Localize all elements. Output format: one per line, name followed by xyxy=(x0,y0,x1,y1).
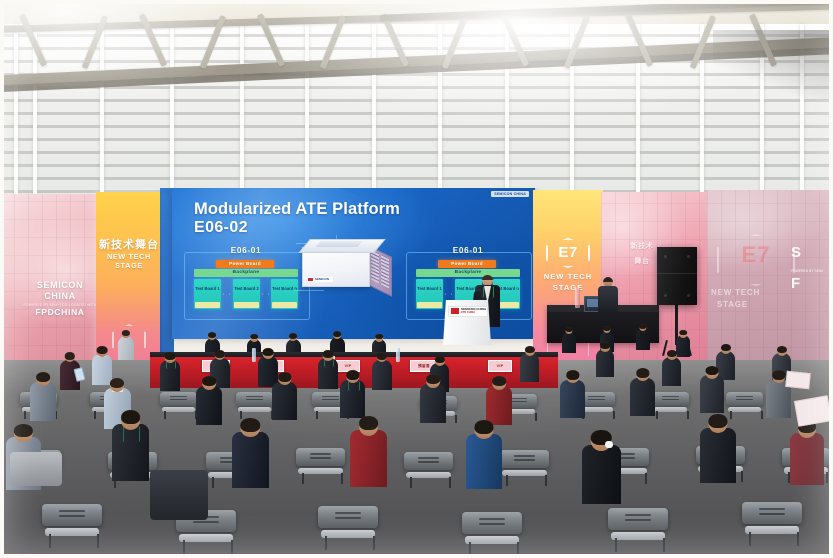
test-board-connector xyxy=(195,302,220,308)
hair xyxy=(772,370,785,380)
torso xyxy=(598,286,618,312)
test-board-connector xyxy=(234,302,259,308)
backrest-slot xyxy=(625,519,651,521)
chair-legs xyxy=(615,538,665,552)
audience-member xyxy=(520,346,539,385)
lectern-logo-plate: SEMICON CHINA FPD CHINA xyxy=(448,306,488,317)
slide-subtitle: E06-02 xyxy=(194,219,248,237)
audience-member xyxy=(700,414,736,488)
hair xyxy=(215,350,225,358)
audience-member xyxy=(560,370,585,422)
hair xyxy=(377,352,387,360)
test-board-block: Test Board 2 xyxy=(233,279,260,309)
torso xyxy=(562,332,576,353)
e7-line2: STAGE xyxy=(717,300,748,309)
hair xyxy=(679,330,687,335)
hair xyxy=(603,277,613,282)
hair xyxy=(524,346,534,353)
hair xyxy=(359,416,379,430)
hall-ceiling xyxy=(0,0,833,206)
audience-member xyxy=(790,420,824,490)
chair xyxy=(42,504,102,548)
hair xyxy=(250,334,258,339)
hair xyxy=(209,332,217,338)
backrest-slot xyxy=(736,399,752,400)
backrest-slot xyxy=(514,455,536,457)
e7-code: E7 xyxy=(546,244,590,261)
speaker-screw-icon xyxy=(687,255,690,258)
hair xyxy=(346,370,359,380)
module-group-left: E06-01 Power Board Backplane Test Board … xyxy=(190,247,302,319)
chair xyxy=(160,392,197,419)
audience-member xyxy=(118,330,134,362)
chair-backrest xyxy=(726,392,763,406)
torso xyxy=(582,445,621,504)
seat-placard: VIP xyxy=(488,360,512,372)
chair xyxy=(296,448,345,484)
program-handout xyxy=(785,371,811,389)
audience-member xyxy=(340,370,365,422)
torso xyxy=(790,433,824,485)
badge-mark-icon xyxy=(308,278,313,281)
test-board-block: Test Board 1 xyxy=(194,279,221,309)
backrest-slot xyxy=(59,515,85,517)
audience-member xyxy=(466,420,502,494)
ate-chassis-render: SEMICON xyxy=(302,239,390,293)
chair-legs xyxy=(749,532,799,546)
torso xyxy=(420,384,446,424)
backrest-slot xyxy=(170,396,186,397)
e7-hexagon-mark: E7 xyxy=(546,238,590,268)
e7-line1: NEW TECH xyxy=(711,288,760,297)
torso xyxy=(118,336,134,360)
audience-member xyxy=(636,324,650,352)
chair-legs xyxy=(183,540,233,554)
test-board-label: Test Board 1 xyxy=(416,286,443,291)
chair xyxy=(652,392,689,419)
chair-backrest xyxy=(404,452,453,470)
hair xyxy=(566,370,579,380)
hair xyxy=(290,333,298,339)
audience-member xyxy=(372,352,392,393)
face-mask xyxy=(605,441,614,448)
chair-backrest xyxy=(608,508,668,530)
torso xyxy=(30,382,56,422)
backrest-slot xyxy=(335,512,361,514)
hair xyxy=(241,418,260,432)
power-board-block: Power Board xyxy=(438,260,496,268)
torso xyxy=(700,428,736,483)
torso xyxy=(232,432,269,488)
hair xyxy=(122,330,130,336)
backrest-slot xyxy=(479,518,505,520)
backrest-slot xyxy=(418,457,440,459)
chair xyxy=(500,450,549,486)
chassis-front: SEMICON xyxy=(302,247,370,287)
water-bottle xyxy=(396,348,400,362)
backrest-slot xyxy=(310,453,332,455)
logo-mark-icon xyxy=(451,308,459,314)
backdrop-pink-right: E7 NEW TECH STAGE S POWERED BY SEMI F xyxy=(707,190,833,363)
chair xyxy=(318,506,378,550)
chair-backrest xyxy=(318,506,378,528)
chair-backrest xyxy=(742,502,802,524)
audience-member xyxy=(30,372,56,425)
chair xyxy=(608,508,668,552)
chair-legs xyxy=(410,477,451,488)
audience-member xyxy=(196,376,222,429)
chair-backrest xyxy=(160,392,197,406)
chair-legs xyxy=(506,475,547,486)
slide-title: Modularized ATE Platform xyxy=(194,200,400,219)
backrest-slot xyxy=(588,399,604,400)
torso xyxy=(700,375,724,412)
backrest-slot xyxy=(310,457,332,459)
audience-member xyxy=(700,366,724,416)
backrest-slot xyxy=(736,396,752,397)
chair-legs xyxy=(164,411,196,420)
hair xyxy=(36,372,50,382)
hair xyxy=(375,334,383,339)
vertical-chinese-text: 新技术舞台 xyxy=(627,240,657,269)
backrest-slot xyxy=(662,399,678,400)
test-board-block: Test Board n xyxy=(271,279,298,309)
backrest-slot xyxy=(246,399,262,400)
lectern-logo-secondary: FPD CHINA xyxy=(461,311,475,314)
fpdchina-initial: F xyxy=(791,275,831,292)
test-board-connector xyxy=(417,302,442,308)
backrest-slot xyxy=(193,521,219,523)
audience-member xyxy=(160,352,180,394)
ceiling-glare-left xyxy=(0,0,833,206)
power-board-block: Power Board xyxy=(216,260,274,268)
backrest-slot xyxy=(759,513,785,515)
hair xyxy=(263,348,274,356)
hair xyxy=(720,344,730,351)
backrest-slot xyxy=(479,523,505,525)
new-tech-stage-chinese: 新技术舞台 xyxy=(96,236,162,252)
conference-photo: SEMICON CHINA POWERED BY SEMI | CO-LOCAT… xyxy=(0,0,833,558)
water-bottle xyxy=(575,288,580,308)
e7-ghost-mark: E7 xyxy=(717,234,795,286)
audience-member xyxy=(112,410,149,487)
chassis-badge-text: SEMICON xyxy=(315,277,329,282)
e7-code: E7 xyxy=(717,242,795,268)
backrest-slot xyxy=(759,508,785,510)
speaker-screw-icon xyxy=(664,294,667,297)
backrest-slot xyxy=(514,459,536,461)
lanyard xyxy=(483,286,494,298)
hair xyxy=(482,275,493,280)
audience-member xyxy=(630,368,655,420)
backrest-slot xyxy=(588,396,604,397)
chair-legs xyxy=(582,411,614,420)
backrest-slot xyxy=(59,510,85,512)
audience-member xyxy=(232,418,269,494)
torso xyxy=(272,382,297,420)
backrest-slot xyxy=(335,517,361,519)
chair xyxy=(742,502,802,546)
audience-member xyxy=(60,352,80,393)
backrest-slot xyxy=(322,399,338,400)
new-tech-stage-english: NEW TECH STAGE xyxy=(96,252,162,270)
audience-member xyxy=(318,350,338,392)
test-board-label: Test Board 2 xyxy=(233,286,260,291)
chair-backrest xyxy=(42,504,102,526)
chair-legs xyxy=(49,534,99,548)
chair-backrest xyxy=(236,392,273,406)
hair xyxy=(600,342,610,349)
module-group-label: E06-01 xyxy=(412,246,524,255)
semicon-initial: S xyxy=(791,244,831,261)
audience-member xyxy=(596,342,614,380)
hair xyxy=(666,350,676,357)
hair xyxy=(474,420,493,434)
backrest-slot xyxy=(170,399,186,400)
hair xyxy=(708,414,727,428)
torso xyxy=(372,360,392,390)
hair xyxy=(603,326,610,331)
audience-member xyxy=(662,350,681,389)
hair xyxy=(636,368,649,378)
hair xyxy=(333,331,341,337)
hair xyxy=(706,366,719,375)
vent-grille-icon xyxy=(371,250,379,284)
chair-backrest xyxy=(462,512,522,534)
audience-member xyxy=(350,416,387,493)
backrest-slot xyxy=(246,396,262,397)
torso xyxy=(636,329,650,350)
semicon-tagline: POWERED BY SEMI xyxy=(791,269,831,273)
water-bottle xyxy=(252,348,256,362)
backrest-slot xyxy=(625,514,651,516)
audience-member xyxy=(272,372,297,424)
torso xyxy=(196,386,222,426)
torso xyxy=(350,430,387,487)
chair-backrest xyxy=(500,450,549,468)
av-technician xyxy=(598,277,618,311)
chair xyxy=(236,392,273,419)
chassis-badge: SEMICON xyxy=(307,277,333,282)
torso xyxy=(520,353,539,382)
torso xyxy=(466,434,502,489)
backrest-slot xyxy=(418,461,440,463)
slide-corner-logo: SEMICON CHINA xyxy=(491,191,529,197)
vent-grille-icon xyxy=(381,254,389,288)
audience-member xyxy=(562,327,576,355)
speaker-screw-icon xyxy=(687,294,690,297)
hair xyxy=(65,352,75,360)
hair xyxy=(323,350,334,358)
backrest-slot xyxy=(322,396,338,397)
torso xyxy=(630,378,655,416)
chair-backrest xyxy=(296,448,345,466)
hair xyxy=(165,352,176,360)
chair-legs xyxy=(469,542,519,556)
hair xyxy=(434,356,444,363)
speaker-seam xyxy=(657,273,697,274)
audience-member xyxy=(582,430,621,510)
test-board-block: Test Board 1 xyxy=(416,279,443,309)
torso xyxy=(662,357,681,386)
hair xyxy=(121,410,141,424)
hair xyxy=(426,374,440,384)
chair xyxy=(462,512,522,556)
chassis-top-inset xyxy=(315,241,362,247)
glow-line xyxy=(294,290,324,291)
hair xyxy=(639,324,646,329)
backpack xyxy=(150,470,208,520)
hair xyxy=(776,346,786,353)
hair xyxy=(278,372,291,382)
hair xyxy=(97,346,108,354)
e7-line1: NEW TECH xyxy=(533,272,603,281)
hair xyxy=(492,376,506,386)
chair-legs xyxy=(302,473,343,484)
torso xyxy=(596,349,614,377)
backrest-slot xyxy=(662,396,678,397)
pa-speaker xyxy=(657,247,697,305)
chair-backrest xyxy=(652,392,689,406)
hair xyxy=(202,376,216,386)
torso xyxy=(560,380,585,418)
backplane-block: Backplane xyxy=(416,269,520,277)
lectern: SEMICON CHINA FPD CHINA xyxy=(443,300,491,345)
backrest-slot xyxy=(510,398,526,399)
semicon-logo-right: S POWERED BY SEMI F xyxy=(791,244,831,292)
hair xyxy=(14,424,32,437)
audience-member xyxy=(420,374,446,427)
chair-legs xyxy=(656,411,688,420)
chair-legs xyxy=(325,536,375,550)
hair xyxy=(110,378,124,388)
module-group-label: E06-01 xyxy=(190,246,302,255)
speaker-screw-icon xyxy=(664,255,667,258)
test-board-label: Test Board 1 xyxy=(194,286,221,291)
backrest-slot xyxy=(510,401,526,402)
coat-on-chair xyxy=(10,452,62,486)
chair xyxy=(404,452,453,488)
test-board-connector xyxy=(272,302,297,308)
hair xyxy=(565,327,572,332)
e7-line2: STAGE xyxy=(533,283,603,292)
backplane-block: Backplane xyxy=(194,269,298,277)
